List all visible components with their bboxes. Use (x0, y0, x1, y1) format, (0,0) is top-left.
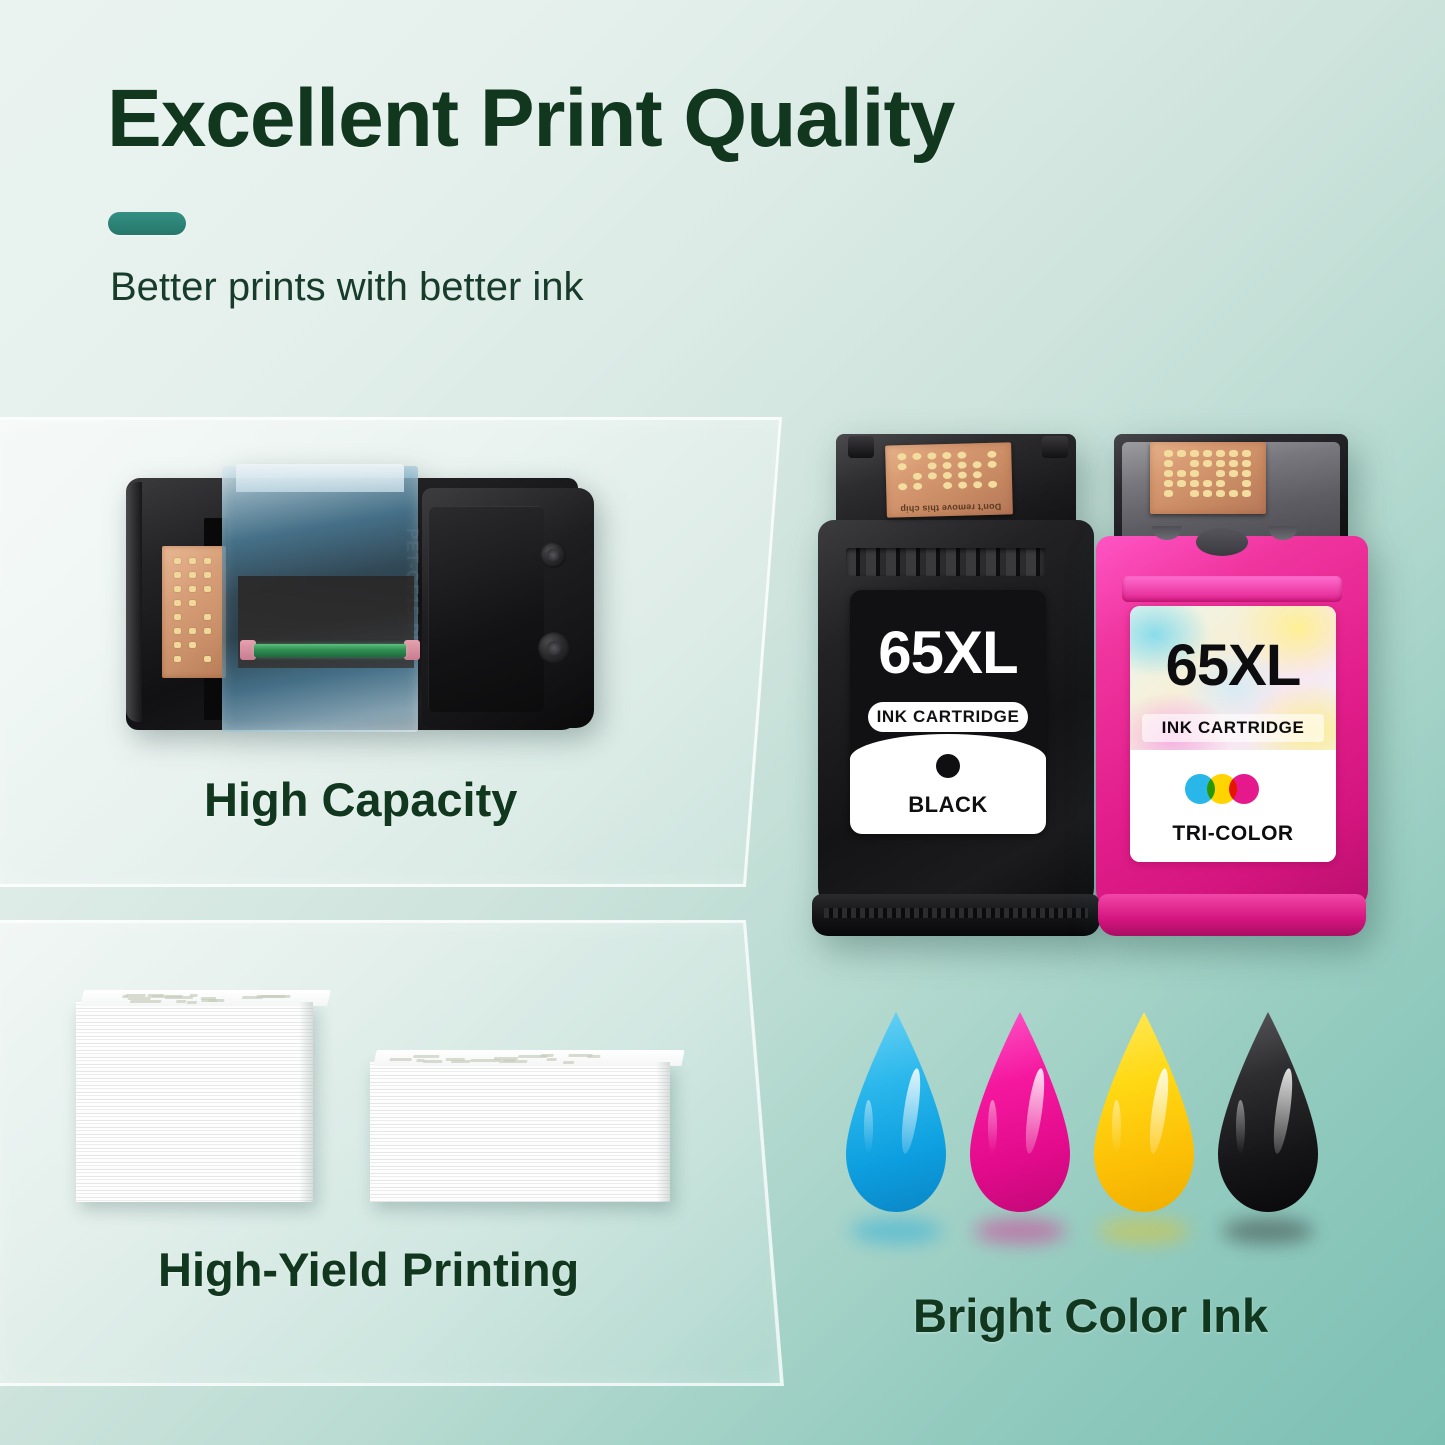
cartridge-black-base-ridges (824, 908, 1088, 918)
caption-bright-color-ink: Bright Color Ink (913, 1288, 1268, 1343)
chip-warning-text: Don't remove this chip (895, 502, 1007, 515)
printhead-screw-top (540, 542, 566, 568)
accent-divider (108, 212, 186, 235)
drop-gloss2-cyan (864, 1100, 873, 1154)
cartridge-color-base (1098, 894, 1366, 936)
cartridge-color-color-name: TRI-COLOR (1130, 822, 1336, 846)
drop-shape-cyan (846, 1012, 946, 1212)
ink-drop-black-icon (1218, 1012, 1318, 1212)
cartridge-black-contact-chip: Don't remove this chip (885, 442, 1013, 517)
printhead-film-top-edge (236, 464, 404, 492)
ink-drop-magenta-icon (970, 1012, 1070, 1212)
tri-color-circles-icon (1185, 774, 1281, 804)
cartridge-color-contact-chip (1150, 442, 1266, 514)
cartridge-black-tab-left (848, 436, 874, 458)
drop-gloss2-magenta (988, 1100, 997, 1154)
printhead-nozzle-strip (254, 644, 406, 657)
drop-shadow-black (1222, 1218, 1314, 1244)
product-feature-graphic: Excellent Print Quality Better prints wi… (0, 0, 1445, 1445)
cartridge-color-ridge (1122, 576, 1342, 602)
printhead-side-edge (126, 482, 142, 722)
paper-stack-large (76, 1002, 313, 1202)
cmyk-ink-drops (846, 1012, 1316, 1227)
page-subtitle: Better prints with better ink (110, 265, 584, 310)
cartridge-color-oval-port (1196, 528, 1248, 556)
cartridge-black-tab-right (1042, 436, 1068, 458)
paper-stack-large-shade (299, 1002, 313, 1202)
caption-high-capacity: High Capacity (204, 772, 517, 827)
drop-gloss2-yellow (1112, 1100, 1121, 1154)
paper-stack-small-top (373, 1050, 684, 1066)
paper-stack-large-top (80, 990, 331, 1006)
printhead-contact-chip (162, 546, 226, 678)
drop-gloss2-black (1236, 1100, 1245, 1154)
drop-shape-black (1218, 1012, 1318, 1212)
drop-shape-yellow (1094, 1012, 1194, 1212)
drop-shadow-yellow (1098, 1218, 1190, 1244)
cartridge-black-white-area (850, 734, 1046, 834)
cartridge-color-label: 65XL INK CARTRIDGE TRI-COLOR (1130, 606, 1336, 862)
cartridge-black-vent-grille (846, 548, 1046, 576)
cartridge-black-color-dot-icon (936, 754, 960, 778)
printhead-screw-bottom (538, 632, 570, 664)
ink-drop-cyan-icon (846, 1012, 946, 1212)
cartridge-black-label: 65XL INK CARTRIDGE BLACK (850, 590, 1046, 834)
printhead-nozzle-end-right (404, 640, 420, 660)
printhead-cartridge-image: PET-GF15-PUR (126, 466, 596, 742)
paper-stack-small-shade (656, 1062, 670, 1202)
drop-shape-magenta (970, 1012, 1070, 1212)
drop-shadow-cyan (850, 1218, 942, 1244)
paper-stack-small (370, 1062, 670, 1202)
page-title: Excellent Print Quality (107, 76, 954, 162)
cartridge-black-model: 65XL (850, 618, 1046, 687)
cartridge-black-type-label: INK CARTRIDGE (868, 702, 1028, 732)
circle-magenta-icon (1229, 774, 1259, 804)
cartridge-color-type-label: INK CARTRIDGE (1142, 714, 1324, 742)
drop-shadow-magenta (974, 1218, 1066, 1244)
printhead-right-inset (428, 506, 544, 712)
ink-drop-yellow-icon (1094, 1012, 1194, 1212)
cartridge-color-model: 65XL (1130, 632, 1336, 699)
cartridge-black-color-name: BLACK (850, 792, 1046, 818)
caption-high-yield: High-Yield Printing (158, 1242, 579, 1297)
